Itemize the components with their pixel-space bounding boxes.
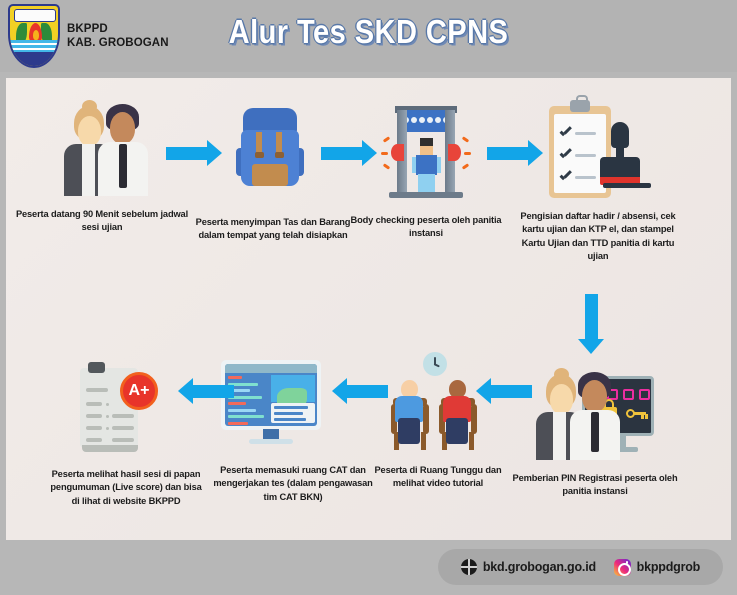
- step-5: Pemberian PIN Registrasi peserta oleh pa…: [534, 368, 654, 464]
- step-6-caption: Peserta di Ruang Tunggu dan melihat vide…: [365, 464, 511, 491]
- step-4-caption: Pengisian daftar hadir / absensi, cek ka…: [513, 210, 683, 264]
- arrow-2-to-3: [321, 140, 377, 166]
- grade-value: A+: [129, 382, 150, 400]
- clock-icon: [423, 352, 447, 376]
- page-header: BKPPD KAB. GROBOGAN Alur Tes SKD CPNS: [0, 0, 737, 72]
- arrow-3-to-4: [487, 140, 543, 166]
- arrow-4-to-5: [578, 294, 604, 354]
- cat-monitor-icon: [221, 360, 325, 452]
- contact-bar: bkd.grobogan.go.id bkppdgrob: [438, 549, 723, 585]
- step-6: Peserta di Ruang Tunggu dan melihat vide…: [389, 352, 485, 452]
- instagram-icon: [614, 559, 631, 576]
- step-3-caption: Body checking peserta oleh panitia insta…: [344, 214, 508, 241]
- grade-badge: A+: [120, 372, 158, 410]
- clipboard-stamp-icon: [547, 100, 643, 200]
- result-sheet-icon: A+: [74, 360, 160, 452]
- step-4: Pengisian daftar hadir / absensi, cek ka…: [547, 100, 643, 200]
- step-7: Peserta memasuki ruang CAT dan mengerjak…: [221, 360, 325, 452]
- step-2: Peserta menyimpan Tas dan Barang dalam t…: [239, 108, 301, 188]
- website-label: bkd.grobogan.go.id: [483, 560, 596, 574]
- instagram-contact[interactable]: bkppdgrob: [614, 559, 700, 576]
- step-8-caption: Peserta melihat hasil sesi di papan peng…: [50, 468, 202, 508]
- metal-detector-icon: [387, 102, 465, 198]
- step-8: A+ Peserta melihat hasil sesi di papan p…: [74, 360, 160, 452]
- infographic-page: BKPPD KAB. GROBOGAN Alur Tes SKD CPNS: [0, 0, 737, 595]
- flow-canvas: Peserta datang 90 Menit sebelum jadwal s…: [6, 78, 731, 540]
- backpack-icon: [239, 108, 301, 188]
- step-1-caption: Peserta datang 90 Menit sebelum jadwal s…: [12, 208, 192, 235]
- arrow-6-to-7: [332, 378, 388, 404]
- step-1: Peserta datang 90 Menit sebelum jadwal s…: [56, 100, 148, 196]
- two-people-icon: [56, 100, 148, 196]
- step-3: Body checking peserta oleh panitia insta…: [387, 102, 465, 198]
- step-7-caption: Peserta memasuki ruang CAT dan mengerjak…: [213, 464, 373, 504]
- website-contact[interactable]: bkd.grobogan.go.id: [461, 559, 596, 575]
- arrow-1-to-2: [166, 140, 222, 166]
- globe-icon: [461, 559, 477, 575]
- page-footer: bkd.grobogan.go.id bkppdgrob: [6, 547, 731, 587]
- instagram-label: bkppdgrob: [637, 560, 700, 574]
- page-title: Alur Tes SKD CPNS: [44, 13, 693, 51]
- pin-registration-icon: [534, 368, 654, 464]
- waiting-room-icon: [389, 352, 485, 452]
- step-5-caption: Pemberian PIN Registrasi peserta oleh pa…: [510, 472, 680, 499]
- step-2-caption: Peserta menyimpan Tas dan Barang dalam t…: [185, 216, 361, 243]
- arrow-7-to-8: [178, 378, 234, 404]
